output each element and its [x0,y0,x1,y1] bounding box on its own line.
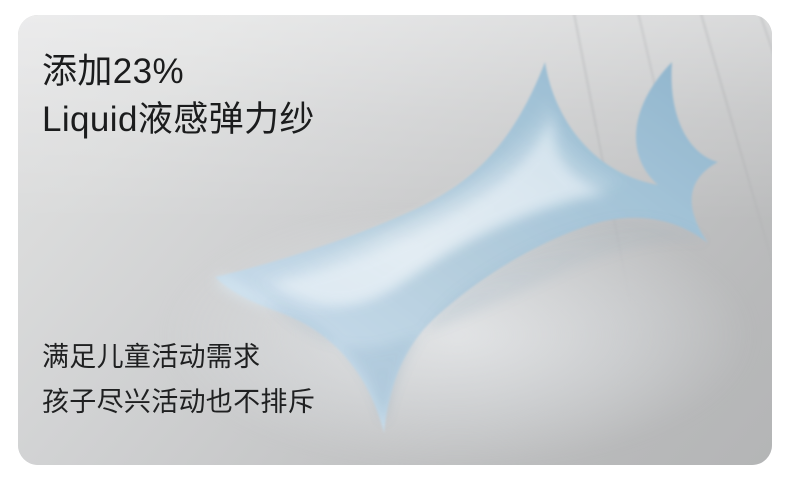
caption-line-2: 孩子尽兴活动也不排斥 [42,380,315,425]
caption-block: 满足儿童活动需求 孩子尽兴活动也不排斥 [42,335,315,425]
title-line-1: 添加23% [42,48,315,96]
title-block: 添加23% Liquid液感弹力纱 [42,48,315,144]
promo-card: 添加23% Liquid液感弹力纱 满足儿童活动需求 孩子尽兴活动也不排斥 [18,15,772,465]
caption-line-1: 满足儿童活动需求 [42,335,315,380]
title-line-2: Liquid液感弹力纱 [42,96,315,144]
